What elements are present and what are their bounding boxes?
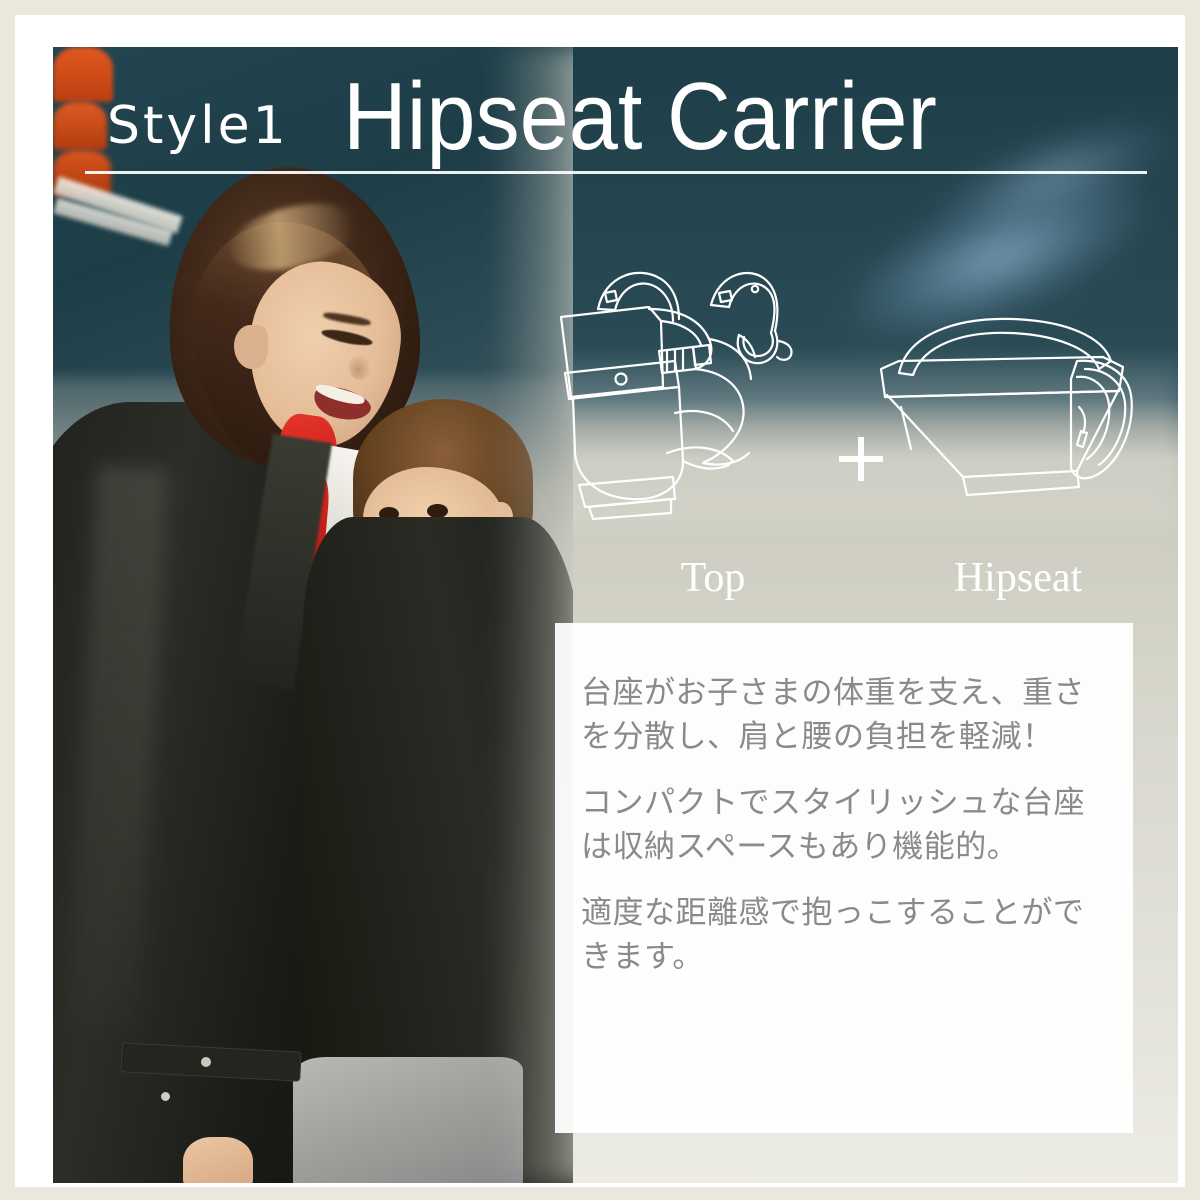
photo-woman-nose bbox=[349, 354, 371, 380]
poster-header: Style1 Hipseat Carrier bbox=[53, 47, 1178, 217]
poster-root: Style1 Hipseat Carrier bbox=[0, 0, 1200, 1200]
white-frame: Style1 Hipseat Carrier bbox=[15, 15, 1185, 1187]
photo-woman-hand bbox=[183, 1137, 253, 1183]
photo-coat-stud-lower bbox=[161, 1092, 170, 1101]
product-caption-hipseat: Hipseat bbox=[903, 557, 1133, 599]
page-title: Hipseat Carrier bbox=[343, 69, 937, 165]
hipseat-pouch-outline-icon bbox=[871, 299, 1151, 519]
photo-woman-ear bbox=[234, 325, 268, 369]
title-underline-rule bbox=[85, 171, 1147, 174]
title-row: Style1 Hipseat Carrier bbox=[107, 69, 1169, 174]
photo-coat-stud-upper bbox=[201, 1057, 211, 1067]
photo-baby-eye-right bbox=[427, 504, 448, 518]
style-label: Style1 bbox=[107, 100, 289, 152]
description-paragraph-3: 適度な距離感で抱っこすることができます。 bbox=[581, 891, 1097, 979]
description-card: 台座がお子さまの体重を支え、重さを分散し、肩と腰の負担を軽減！ コンパクトでスタ… bbox=[555, 623, 1133, 1133]
artwork-canvas: Style1 Hipseat Carrier bbox=[53, 47, 1178, 1183]
description-paragraph-1: 台座がお子さまの体重を支え、重さを分散し、肩と腰の負担を軽減！ bbox=[581, 671, 1097, 759]
product-caption-top: Top bbox=[623, 557, 803, 599]
baby-carrier-outline-icon bbox=[543, 247, 843, 547]
product-lineup: Top Hipseat bbox=[523, 237, 1173, 617]
photo-gray-skirt bbox=[293, 1057, 523, 1183]
description-paragraph-2: コンパクトでスタイリッシュな台座は収納スペースもあり機能的。 bbox=[581, 781, 1097, 869]
